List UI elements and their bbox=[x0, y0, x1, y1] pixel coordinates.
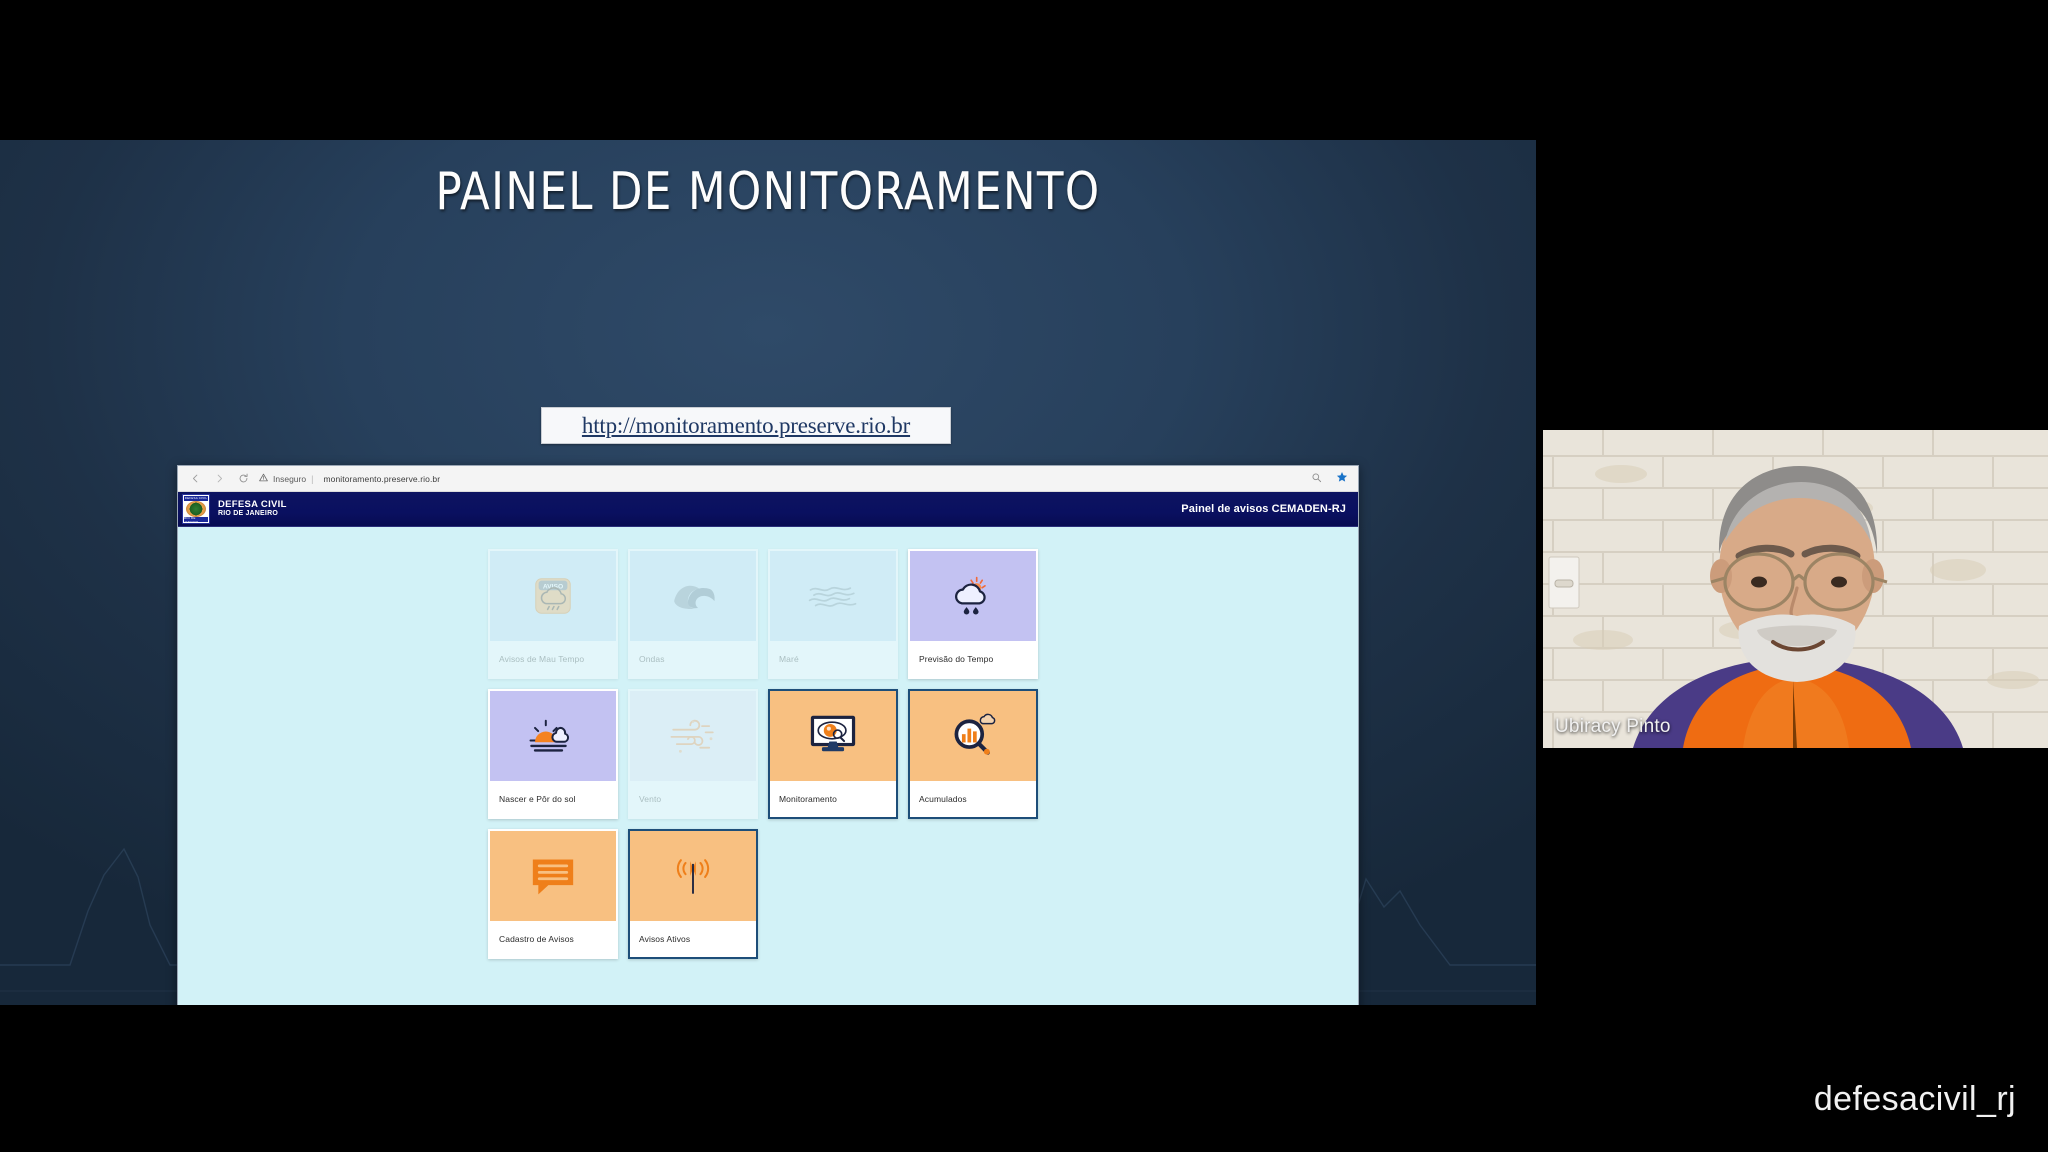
magnifier-chart-icon bbox=[910, 691, 1036, 781]
page-title: PAINEL DE MONITORAMENTO bbox=[54, 162, 1482, 222]
browser-window: Inseguro | monitoramento.preserve.rio.br bbox=[177, 465, 1359, 1005]
tile-area: AVISO Avisos de Mau Tempo Ondas Maré Pre… bbox=[178, 527, 1358, 959]
tide-icon bbox=[770, 551, 896, 641]
app-header: DEFESA CIVIL RIO DE JANEIRO DEFESA CIVIL… bbox=[178, 492, 1358, 527]
tile-avisos-de-mau-tempo: AVISO Avisos de Mau Tempo bbox=[488, 549, 618, 679]
tile-label: Maré bbox=[770, 641, 896, 677]
defesa-civil-logo-icon: DEFESA CIVIL RIO DE JANEIRO bbox=[182, 494, 210, 524]
app-header-title: Painel de avisos CEMADEN-RJ bbox=[1181, 503, 1346, 515]
browser-toolbar: Inseguro | monitoramento.preserve.rio.br bbox=[178, 466, 1358, 492]
wind-icon bbox=[630, 691, 756, 781]
url-callout-box: http://monitoramento.preserve.rio.br bbox=[541, 407, 951, 444]
tile-label: Vento bbox=[630, 781, 756, 817]
security-status[interactable]: Inseguro | bbox=[259, 473, 313, 484]
broadcast-tower-icon bbox=[630, 831, 756, 921]
forward-arrow-icon[interactable] bbox=[214, 473, 225, 484]
search-icon[interactable] bbox=[1311, 470, 1322, 488]
brand-block: DEFESA CIVIL RIO DE JANEIRO DEFESA CIVIL… bbox=[182, 494, 287, 524]
brand-line-2: RIO DE JANEIRO bbox=[218, 510, 287, 518]
address-bar[interactable]: monitoramento.preserve.rio.br bbox=[323, 474, 440, 484]
tile-monitoramento[interactable]: Monitoramento bbox=[768, 689, 898, 819]
logo-bottom-text: RIO DE JANEIRO bbox=[184, 517, 208, 522]
tile-label: Previsão do Tempo bbox=[910, 641, 1036, 677]
sunrise-sunset-icon bbox=[490, 691, 616, 781]
tile-nascer-e-p-r-do-sol[interactable]: Nascer e Pôr do sol bbox=[488, 689, 618, 819]
tile-mar: Maré bbox=[768, 549, 898, 679]
participant-avatar bbox=[1543, 430, 2048, 748]
watermark-label: defesacivil_rj bbox=[1814, 1080, 2016, 1119]
tile-label: Avisos de Mau Tempo bbox=[490, 641, 616, 677]
tile-avisos-ativos[interactable]: Avisos Ativos bbox=[628, 829, 758, 959]
svg-text:AVISO: AVISO bbox=[543, 583, 563, 590]
tile-acumulados[interactable]: Acumulados bbox=[908, 689, 1038, 819]
wave-icon bbox=[630, 551, 756, 641]
tile-previs-o-do-tempo[interactable]: Previsão do Tempo bbox=[908, 549, 1038, 679]
tile-label: Monitoramento bbox=[770, 781, 896, 817]
rain-cloud-sun-icon bbox=[910, 551, 1036, 641]
monitor-eye-icon bbox=[770, 691, 896, 781]
reload-icon[interactable] bbox=[238, 473, 249, 484]
security-label: Inseguro bbox=[273, 474, 306, 484]
speech-bubble-icon bbox=[490, 831, 616, 921]
tile-label: Ondas bbox=[630, 641, 756, 677]
toolbar-separator: | bbox=[311, 474, 313, 484]
warning-triangle-icon bbox=[259, 473, 268, 484]
brand-line-1: DEFESA CIVIL bbox=[218, 500, 287, 511]
tile-vento: Vento bbox=[628, 689, 758, 819]
storm-warning-icon: AVISO bbox=[490, 551, 616, 641]
tile-label: Cadastro de Avisos bbox=[490, 921, 616, 957]
web-app-viewport: DEFESA CIVIL RIO DE JANEIRO DEFESA CIVIL… bbox=[178, 492, 1358, 1005]
back-arrow-icon[interactable] bbox=[190, 473, 201, 484]
tile-cadastro-de-avisos[interactable]: Cadastro de Avisos bbox=[488, 829, 618, 959]
participant-video-tile[interactable]: Ubiracy Pinto bbox=[1543, 430, 2048, 748]
star-icon[interactable] bbox=[1336, 470, 1348, 488]
tile-label: Avisos Ativos bbox=[630, 921, 756, 957]
screen-capture: PAINEL DE MONITORAMENTO http://monitoram… bbox=[0, 0, 2048, 1152]
tile-label: Acumulados bbox=[910, 781, 1036, 817]
tile-ondas: Ondas bbox=[628, 549, 758, 679]
tile-grid: AVISO Avisos de Mau Tempo Ondas Maré Pre… bbox=[488, 549, 1048, 959]
shared-slide: PAINEL DE MONITORAMENTO http://monitoram… bbox=[0, 140, 1536, 1005]
panel-url-link[interactable]: http://monitoramento.preserve.rio.br bbox=[582, 413, 910, 439]
tile-label: Nascer e Pôr do sol bbox=[490, 781, 616, 817]
participant-name: Ubiracy Pinto bbox=[1555, 716, 1671, 738]
